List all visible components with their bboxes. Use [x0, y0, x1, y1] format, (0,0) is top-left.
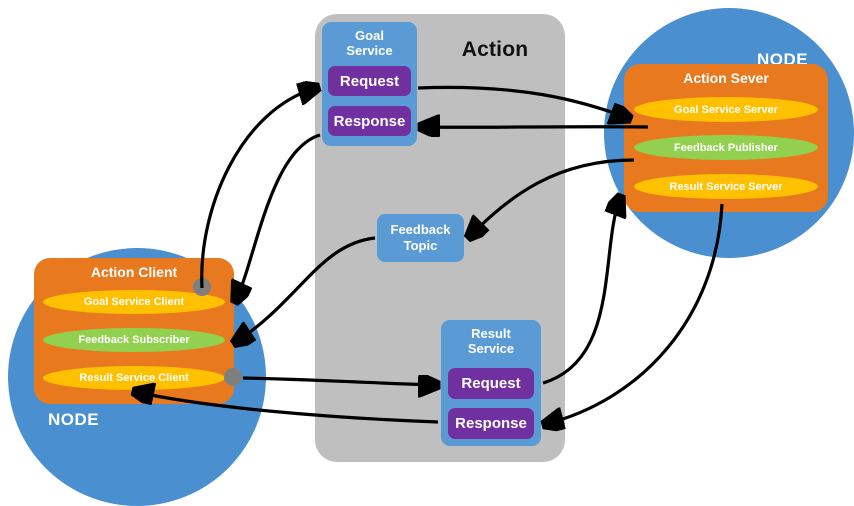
goal-service-title-line2: Service: [322, 43, 417, 58]
pill-result-service-client[interactable]: Result Service Client: [43, 366, 225, 390]
action-server-title: Action Sever: [624, 70, 828, 86]
result-service-title: Result Service: [441, 326, 541, 356]
pill-result-service-server[interactable]: Result Service Server: [634, 174, 818, 199]
goal-client-connector-dot: [193, 278, 211, 296]
result-service-title-line1: Result: [441, 326, 541, 341]
pill-feedback-subscriber[interactable]: Feedback Subscriber: [43, 328, 225, 352]
result-request-box[interactable]: Request: [448, 368, 534, 399]
client-node-label: NODE: [48, 410, 99, 430]
result-service-card[interactable]: Result Service Request Response: [441, 320, 541, 446]
feedback-topic-box[interactable]: Feedback Topic: [377, 214, 464, 262]
feedback-topic-line2: Topic: [391, 238, 451, 254]
goal-response-box[interactable]: Response: [328, 106, 411, 136]
goal-service-title: Goal Service: [322, 28, 417, 58]
arrow-goal-response-to-client: [236, 135, 320, 300]
goal-service-card[interactable]: Goal Service Request Response: [322, 22, 417, 146]
action-panel-title: Action: [440, 36, 550, 64]
result-service-title-line2: Service: [441, 341, 541, 356]
pill-feedback-publisher[interactable]: Feedback Publisher: [634, 135, 818, 160]
goal-service-title-line1: Goal: [322, 28, 417, 43]
result-response-box[interactable]: Response: [448, 408, 534, 439]
feedback-topic-line1: Feedback: [391, 222, 451, 238]
action-server-box[interactable]: Action Sever Goal Service Server Feedbac…: [624, 64, 828, 212]
diagram-canvas: Action NODE NODE Action Client Goal Serv…: [0, 0, 854, 480]
pill-goal-service-server[interactable]: Goal Service Server: [634, 97, 818, 122]
goal-request-box[interactable]: Request: [328, 66, 411, 96]
result-client-connector-dot: [224, 368, 242, 386]
feedback-topic-text: Feedback Topic: [391, 222, 451, 254]
